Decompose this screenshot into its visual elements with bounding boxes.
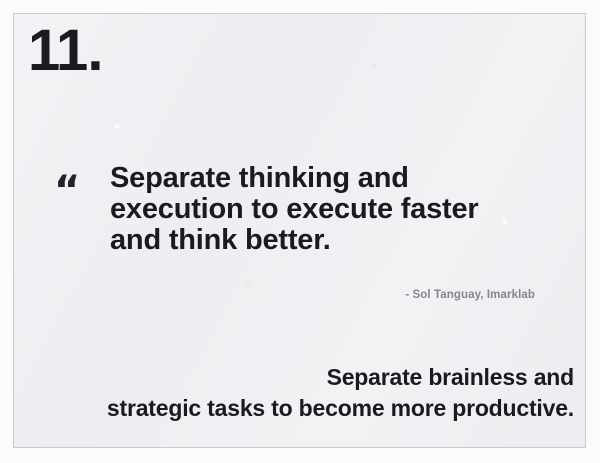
slide-canvas: 11. “ Separate thinking and execution to…	[13, 13, 586, 448]
quote-attribution: - Sol Tanguay, Imarklab	[14, 289, 535, 301]
slide-number: 11.	[28, 22, 102, 80]
bottom-statement-line: Separate brainless and	[14, 362, 574, 393]
quote-line: and think better.	[110, 225, 554, 256]
slide-content: 11. “ Separate thinking and execution to…	[14, 14, 585, 447]
quote-open-icon: “	[54, 171, 78, 211]
quote-block: “ Separate thinking and execution to exe…	[54, 163, 554, 256]
bottom-statement-line: strategic tasks to become more productiv…	[14, 393, 574, 424]
quote-line: execution to execute faster	[110, 194, 554, 225]
bottom-statement: Separate brainless and strategic tasks t…	[14, 362, 574, 424]
quote-text: Separate thinking and execution to execu…	[110, 163, 554, 256]
quote-line: Separate thinking and	[110, 163, 554, 194]
